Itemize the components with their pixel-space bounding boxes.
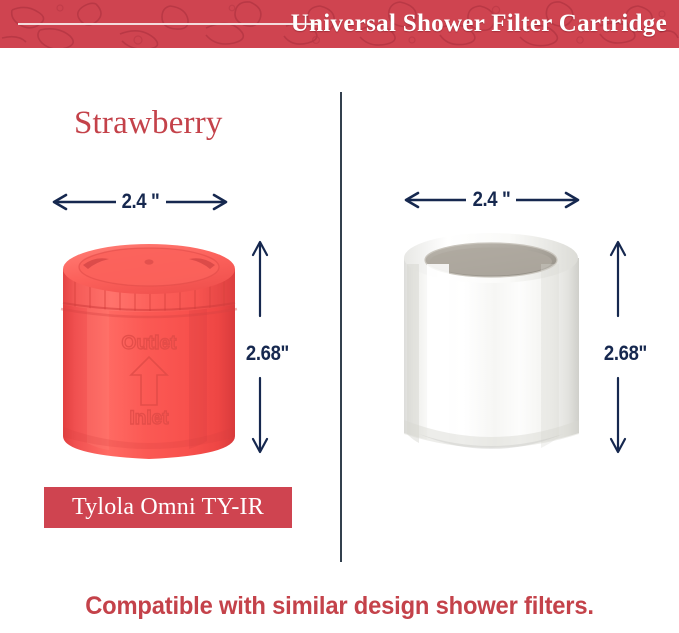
header-banner: Universal Shower Filter Cartridge: [0, 0, 679, 48]
width-label-left: 2.4 ": [122, 190, 160, 214]
inlet-emboss: Inlet: [129, 408, 169, 429]
svg-text:Inlet: Inlet: [129, 408, 169, 429]
header-rule: [18, 23, 318, 25]
width-label-right: 2.4 ": [473, 188, 511, 212]
flavor-title: Strawberry: [74, 105, 223, 142]
panel-divider: [340, 92, 342, 562]
height-label-right: 2.68": [604, 342, 647, 366]
white-shower-filter-cartridge: [399, 228, 584, 463]
height-label-left: 2.68": [246, 342, 289, 366]
outlet-emboss: Outlet: [122, 333, 178, 354]
product-infographic: Universal Shower Filter Cartridge Strawb…: [0, 0, 679, 633]
page-title: Universal Shower Filter Cartridge: [291, 10, 667, 38]
footer-tagline: Compatible with similar design shower fi…: [17, 592, 662, 621]
model-banner: Tylola Omni TY-IR: [44, 487, 292, 528]
svg-text:Outlet: Outlet: [122, 333, 178, 354]
model-banner-label: Tylola Omni TY-IR: [72, 494, 264, 521]
red-shower-filter-cartridge: Outlet Inlet: [57, 231, 241, 463]
